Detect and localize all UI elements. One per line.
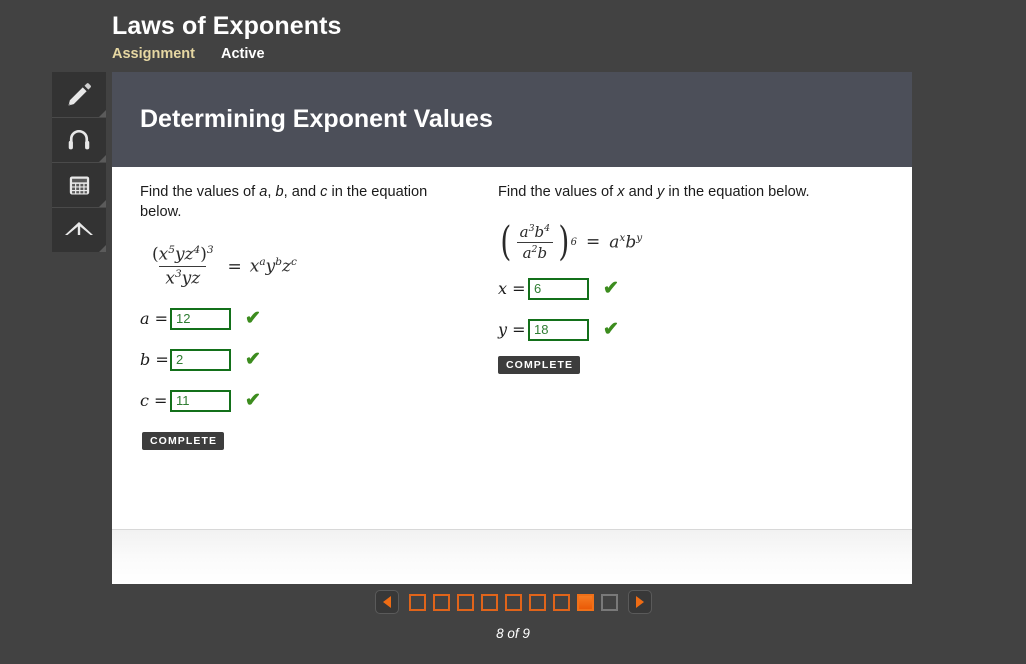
answer-input-a[interactable]	[170, 308, 231, 330]
panel-header: Determining Exponent Values	[112, 72, 912, 167]
answer-row-c: c = ✔	[140, 390, 484, 412]
correct-check-icon-b: ✔	[245, 350, 261, 369]
question-2-equation: ( a3b4 a2b )6 = axby	[498, 223, 642, 262]
answer-label-x: x =	[498, 279, 528, 298]
chevron-up-icon	[63, 217, 95, 243]
prev-page-button[interactable]	[375, 590, 399, 614]
question-2-prompt: Find the values of x and y in the equati…	[498, 183, 878, 203]
panel-footer	[112, 529, 912, 584]
calculator-tool[interactable]	[52, 162, 106, 207]
page-dots	[409, 594, 618, 611]
page-indicator-label: 8 of 9	[496, 626, 530, 641]
question-1-complete-badge: COMPLETE	[142, 432, 224, 450]
answer-input-y[interactable]	[528, 319, 589, 341]
calculator-icon	[66, 172, 93, 199]
arrow-left-icon	[383, 596, 391, 608]
page-dot-7[interactable]	[553, 594, 570, 611]
correct-check-icon-a: ✔	[245, 309, 261, 328]
answer-input-x[interactable]	[528, 278, 589, 300]
answer-row-a: a = ✔	[140, 308, 484, 330]
headphones-icon	[65, 126, 93, 154]
page-dot-5[interactable]	[505, 594, 522, 611]
question-1-equation: (x5yz4)3 x3yz = xaybzc	[146, 244, 297, 288]
page-dot-9[interactable]	[601, 594, 618, 611]
question-1-prompt: Find the values of a, b, and c in the eq…	[140, 183, 470, 222]
correct-check-icon-x: ✔	[603, 279, 619, 298]
answer-row-x: x = ✔	[498, 278, 898, 300]
content-panel: Determining Exponent Values Find the val…	[112, 72, 912, 584]
tool-rail	[52, 72, 106, 252]
answer-row-b: b = ✔	[140, 349, 484, 371]
next-page-button[interactable]	[628, 590, 652, 614]
correct-check-icon-c: ✔	[245, 391, 261, 410]
page-dot-4[interactable]	[481, 594, 498, 611]
question-2: Find the values of x and y in the equati…	[498, 183, 912, 529]
page-dot-8[interactable]	[577, 594, 594, 611]
answer-label-c: c =	[140, 391, 170, 410]
arrow-right-icon	[636, 596, 644, 608]
question-2-complete-badge: COMPLETE	[498, 356, 580, 374]
answer-row-y: y = ✔	[498, 319, 898, 341]
assignment-page: Laws of Exponents AssignmentActive	[0, 0, 1026, 664]
answer-label-b: b =	[140, 350, 170, 369]
panel-body: Find the values of a, b, and c in the eq…	[112, 167, 912, 529]
pencil-tool[interactable]	[52, 72, 106, 117]
question-1: Find the values of a, b, and c in the eq…	[112, 183, 498, 529]
collapse-tool[interactable]	[52, 207, 106, 252]
page-dot-1[interactable]	[409, 594, 426, 611]
panel-title: Determining Exponent Values	[140, 105, 493, 134]
page-dot-6[interactable]	[529, 594, 546, 611]
breadcrumb: AssignmentActive	[112, 46, 265, 62]
page-dot-3[interactable]	[457, 594, 474, 611]
answer-input-b[interactable]	[170, 349, 231, 371]
answer-input-c[interactable]	[170, 390, 231, 412]
status-badge-active: Active	[221, 46, 265, 62]
pencil-icon	[64, 80, 94, 110]
correct-check-icon-y: ✔	[603, 320, 619, 339]
page-title: Laws of Exponents	[112, 12, 342, 41]
answer-label-y: y =	[498, 320, 528, 339]
answer-label-a: a =	[140, 309, 170, 328]
headphones-tool[interactable]	[52, 117, 106, 162]
pagination-row	[365, 590, 662, 614]
breadcrumb-assignment[interactable]: Assignment	[112, 46, 195, 62]
page-dot-2[interactable]	[433, 594, 450, 611]
pagination: 8 of 9	[0, 590, 1026, 641]
